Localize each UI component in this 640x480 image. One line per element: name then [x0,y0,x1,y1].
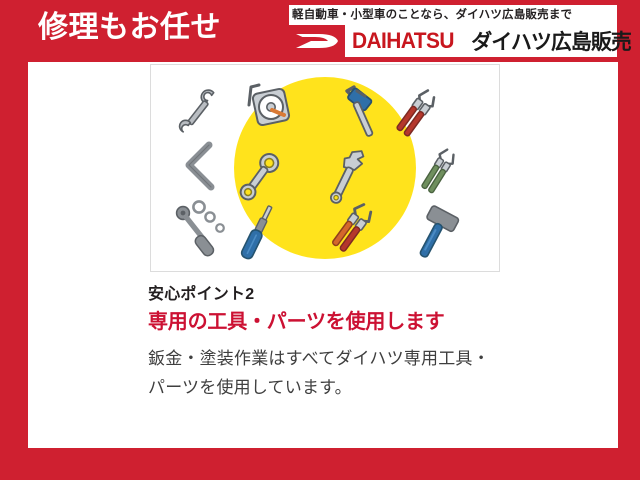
point-body-text: 鈑金・塗装作業はすべてダイハツ専用工具・パーツを使用しています。 [148,344,496,402]
page-title: 修理もお任せ [38,11,221,45]
slide-root: 修理もお任せ 軽自動車・小型車のことなら、ダイハツ広島販売まで DAIHATSU… [0,0,640,480]
red-handle-pliers-icon [396,88,439,138]
dealer-name-text: ダイハツ広島販売 [471,26,631,56]
point-label: 安心ポイント2 [148,284,508,306]
combination-spanner-icon [176,87,216,133]
mallet-icon [410,205,460,263]
tools-illustration [151,65,499,271]
logo-tagline: 軽自動車・小型車のことなら、ダイハツ広島販売まで [292,7,616,23]
content-card: 安心ポイント2 専用の工具・パーツを使用します 鈑金・塗装作業はすべてダイハツ専… [28,62,618,448]
daihatsu-wordmark: DAIHATSU [352,28,454,54]
logo-row: DAIHATSU ダイハツ広島販売 [289,25,617,57]
header-bar: 修理もお任せ 軽自動車・小型車のことなら、ダイハツ広島販売まで DAIHATSU… [0,0,640,62]
allen-key-icon [189,145,211,187]
green-handle-pliers-icon [420,148,457,195]
text-block: 安心ポイント2 専用の工具・パーツを使用します 鈑金・塗装作業はすべてダイハツ専… [148,284,508,402]
point-headline: 専用の工具・パーツを使用します [148,310,492,334]
daihatsu-d-emblem-icon [289,25,345,57]
dealer-logo-block: 軽自動車・小型車のことなら、ダイハツ広島販売まで DAIHATSU ダイハツ広島… [288,4,618,58]
socket-wrench-icon [177,201,224,257]
illustration-frame [150,64,500,272]
